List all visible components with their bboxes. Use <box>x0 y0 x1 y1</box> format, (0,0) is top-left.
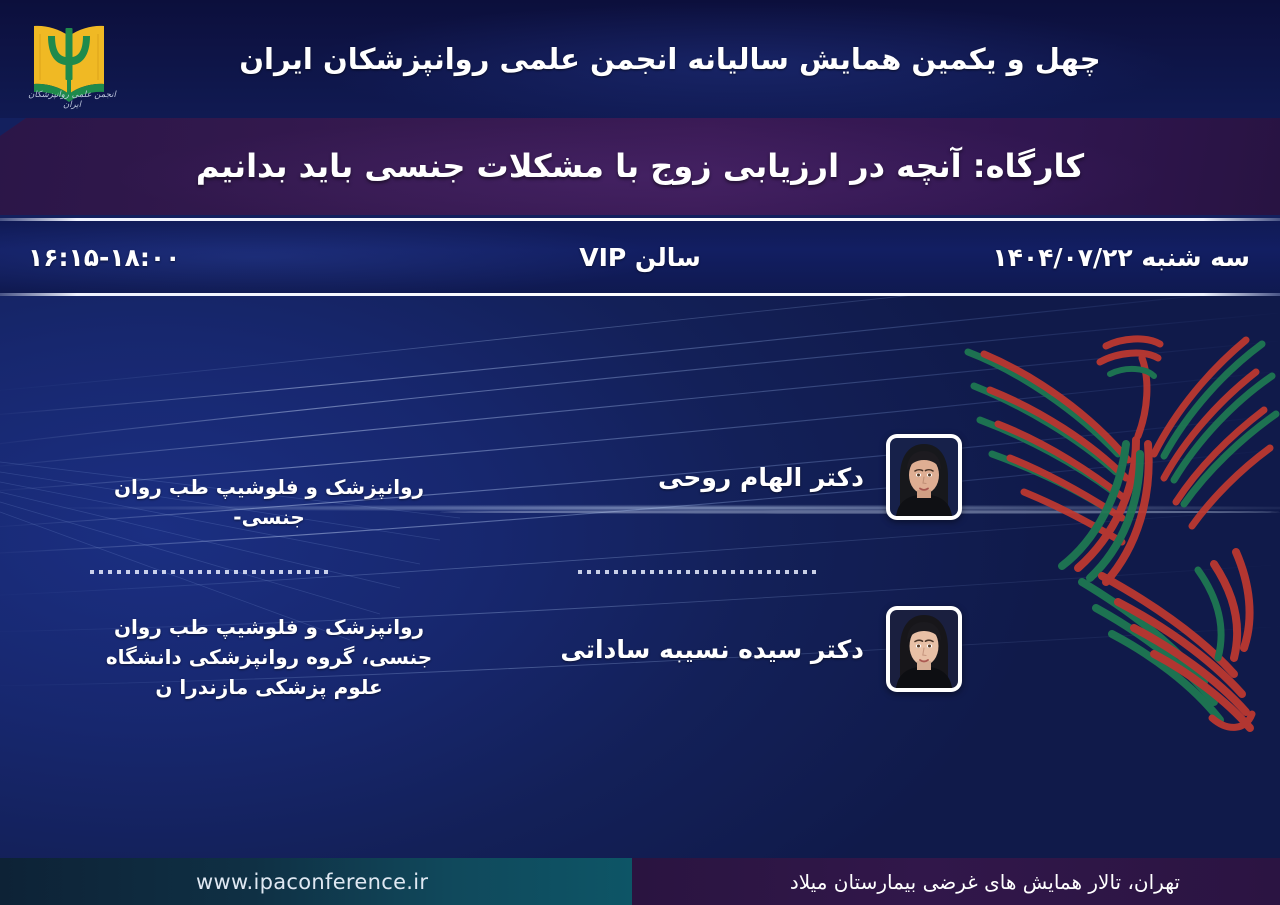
conference-poster: انجمن علمی روانپزشکان ایران چهل و یکمین … <box>0 0 1280 905</box>
venue-address: تهران، تالار همایش های غرضی بیمارستان می… <box>790 858 1180 905</box>
event-time: ۱۶:۱۵-۱۸:۰۰ <box>28 221 180 293</box>
info-bar-top-rule <box>0 218 1280 221</box>
separator-dots <box>578 570 818 574</box>
poster-header: انجمن علمی روانپزشکان ایران چهل و یکمین … <box>0 0 1280 118</box>
event-hall: سالن VIP <box>0 221 1280 293</box>
conference-website-link[interactable]: www.ipaconference.ir <box>196 858 428 905</box>
info-bar: سه شنبه ۱۴۰۴/۰۷/۲۲ سالن VIP ۱۶:۱۵-۱۸:۰۰ <box>0 221 1280 293</box>
poster-body: دکتر الهام روحی روانپزشک و فلوشیپ طب روا… <box>0 296 1280 858</box>
conference-title: چهل و یکمین همایش سالیانه انجمن علمی روا… <box>210 41 1130 77</box>
separator-dots <box>90 570 330 574</box>
speaker-name: دکتر سیده نسیبه ساداتی <box>560 635 864 664</box>
phoenix-simorgh-icon <box>950 314 1280 744</box>
speaker-credentials: روانپزشک و فلوشیپ طب روان جنسی، گروه روا… <box>104 612 434 702</box>
avatar <box>886 434 962 520</box>
speaker-row: دکتر سیده نسیبه ساداتی <box>560 606 962 692</box>
workshop-title: کارگاه: آنچه در ارزیابی زوج با مشکلات جن… <box>0 118 1280 215</box>
poster-footer: www.ipaconference.ir تهران، تالار همایش … <box>0 858 1280 905</box>
speaker-name: دکتر الهام روحی <box>658 463 864 492</box>
logo-caption: انجمن علمی روانپزشکان ایران <box>20 90 124 110</box>
open-book-psi-logo-icon: انجمن علمی روانپزشکان ایران <box>14 8 124 112</box>
avatar <box>886 606 962 692</box>
info-bar-bottom-rule <box>0 293 1280 296</box>
speaker-credentials: روانپزشک و فلوشیپ طب روان جنسی- <box>104 472 434 532</box>
speaker-row: دکتر الهام روحی <box>658 434 962 520</box>
